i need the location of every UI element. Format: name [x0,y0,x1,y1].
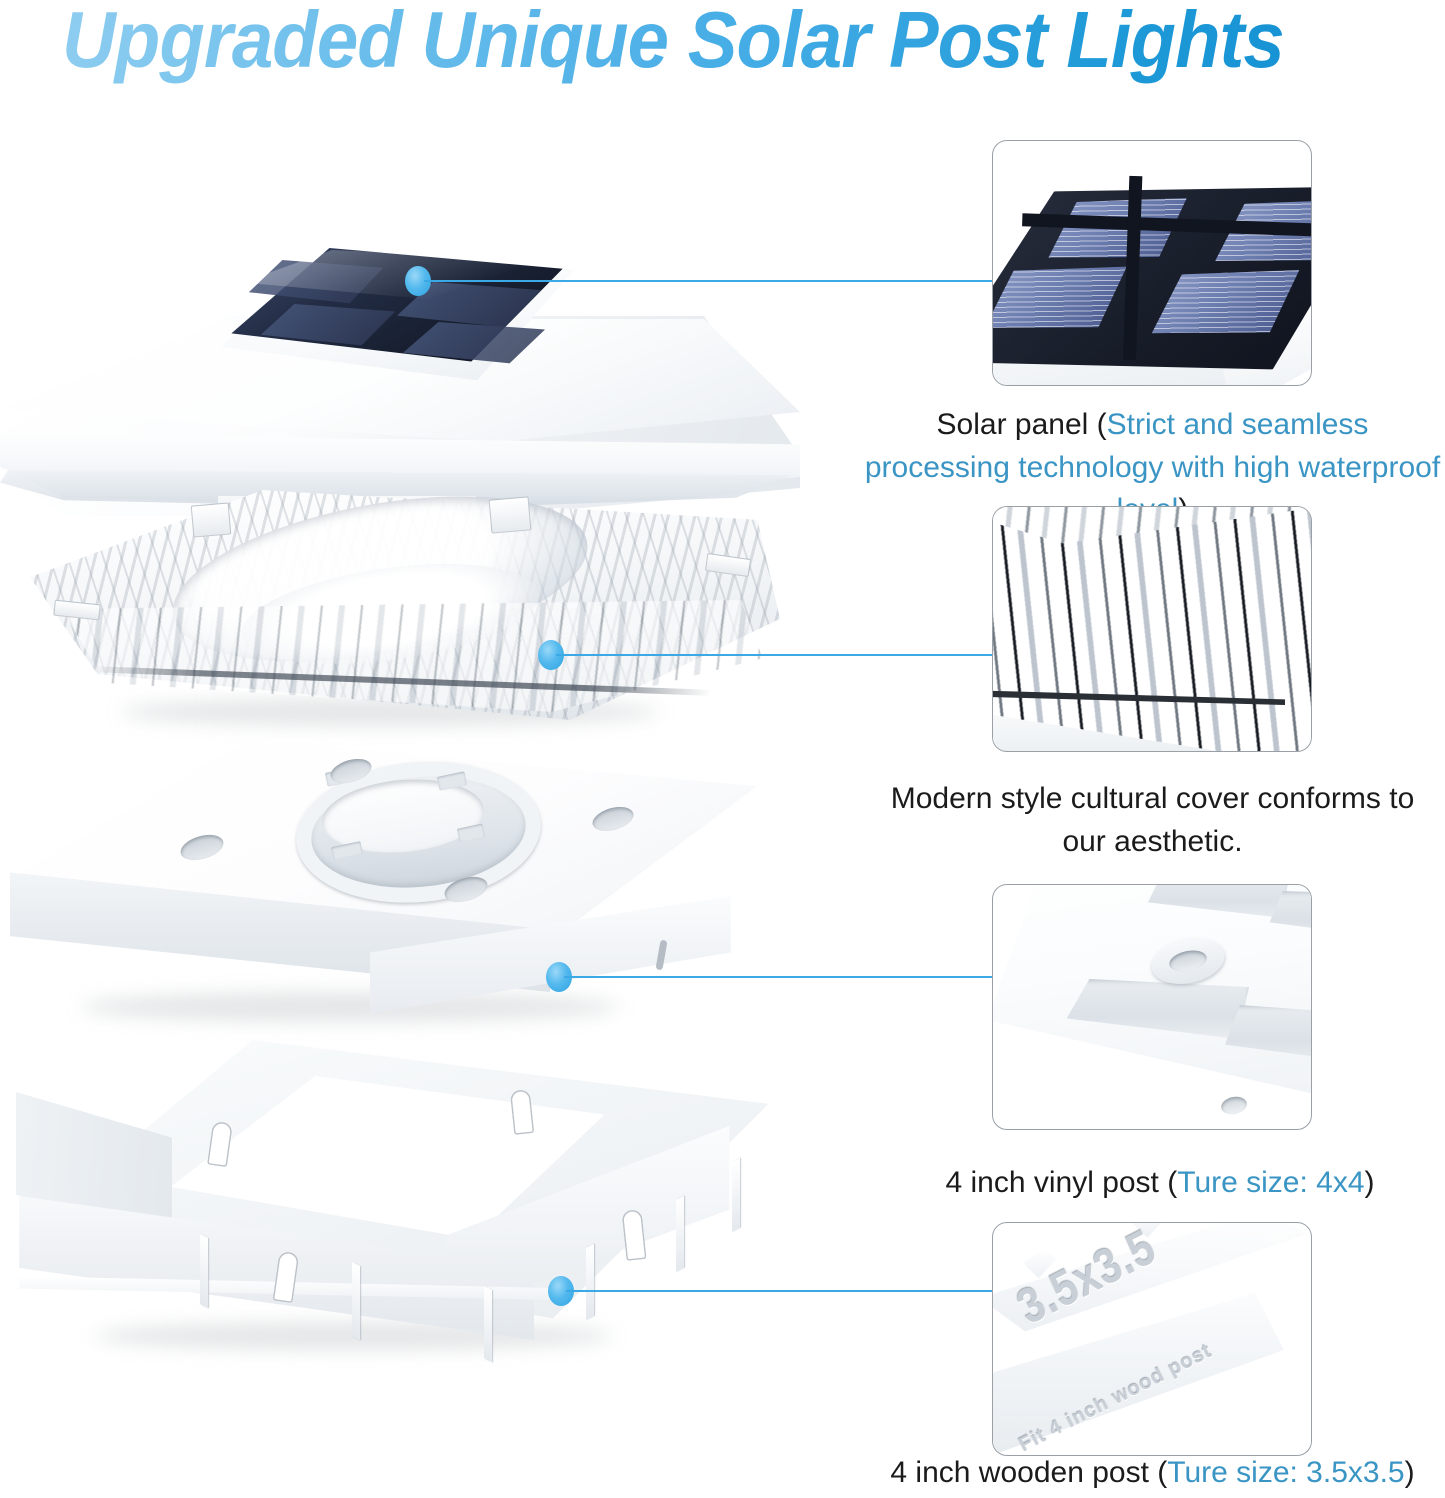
title-band: Upgraded Unique Solar Post Lights [0,0,1445,100]
callout-line-wooden-post [566,1290,994,1292]
caption-cover-black-1: Modern style cultural cover conforms to … [891,782,1415,858]
caption-cultural-cover: Modern style cultural cover conforms to … [880,778,1425,863]
vinyl-post-closeup [992,884,1312,1130]
caption-vinyl-blue: Ture size: 4x4 [1177,1166,1364,1199]
glass-cover-closeup [992,506,1312,752]
glass-macro-texture [992,506,1312,752]
part-adapter-frame [14,1040,784,1370]
caption-vinyl-black-1: 4 inch vinyl post ( [945,1166,1177,1199]
caption-wood-blue: Ture size: 3.5x3.5 [1167,1456,1404,1489]
caption-wood-black-2: ) [1405,1456,1415,1489]
base-shadow [80,992,620,1022]
caption-wooden-post: 4 inch wooden post (Ture size: 3.5x3.5) [860,1452,1445,1495]
part-glass-cover [30,490,780,720]
frame-rib-3 [484,1286,492,1362]
frame-rib-6 [732,1158,740,1232]
glass-tab-1 [191,502,232,537]
caption-solar-black-1: Solar panel ( [937,408,1107,441]
glass-facet-texture [40,600,770,712]
callout-line-solar-panel [424,280,994,282]
glass-macro-art [992,506,1312,752]
wooden-post-closeup: 3.5x3.5 Fit 4 inch wood post [992,1222,1312,1456]
vinyl-macro-edge-hole [1220,1094,1249,1116]
callout-line-vinyl-post [564,976,994,978]
caption-wood-black-1: 4 inch wooden post ( [890,1456,1167,1489]
part-base-plate [10,740,780,1040]
page-title: Upgraded Unique Solar Post Lights [62,0,1284,86]
solar-macro-frame [992,140,1312,386]
wood-macro-art: 3.5x3.5 Fit 4 inch wood post [992,1222,1312,1456]
caption-vinyl-post: 4 inch vinyl post (Ture size: 4x4) [880,1162,1440,1205]
callout-line-glass-cover [556,654,994,656]
solar-panel-closeup [992,140,1312,386]
exploded-product-view [0,100,860,1498]
glass-tab-2 [489,496,532,533]
caption-vinyl-black-2: ) [1365,1166,1375,1199]
vinyl-macro-art [992,884,1312,1130]
frame-rib-1 [200,1234,208,1308]
frame-rib-5 [676,1196,684,1272]
wood-macro-embossed-size: 3.5x3.5 [1008,1222,1165,1336]
frame-rib-2 [352,1262,360,1340]
solar-macro-art [992,140,1312,386]
frame-rib-4 [586,1244,594,1320]
